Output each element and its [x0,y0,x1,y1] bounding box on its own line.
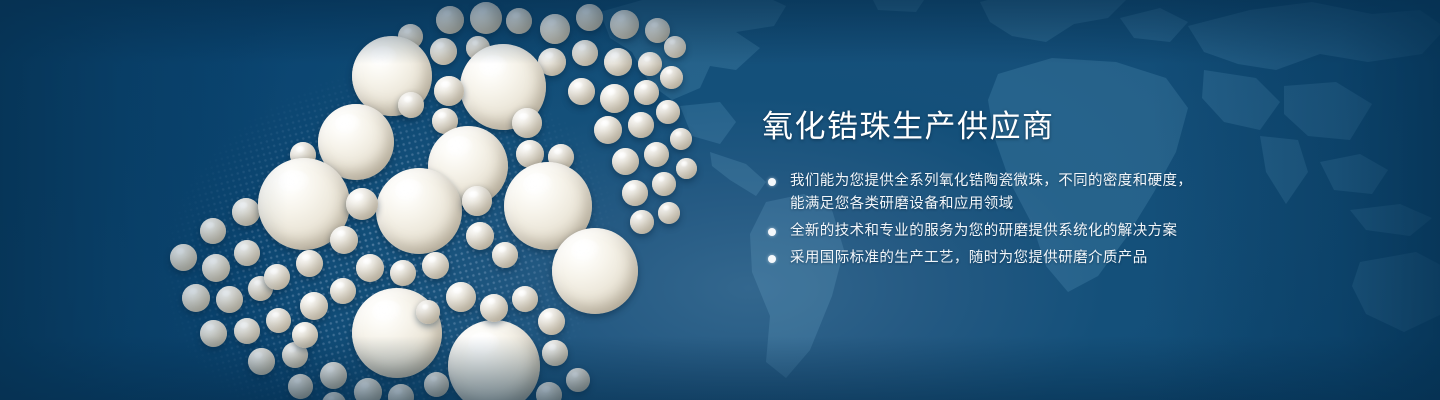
page-title: 氧化锆珠生产供应商 [762,108,1232,146]
bullet-dot-icon [768,255,776,263]
list-item-line1: 全新的技术和专业的服务为您的研磨提供系统化的解决方案 [790,223,1177,239]
list-item: 全新的技术和专业的服务为您的研磨提供系统化的解决方案 [762,220,1232,243]
list-item-line1: 我们能为您提供全系列氧化锆陶瓷微珠，不同的密度和硬度， [790,173,1192,189]
list-item-line2: 能满足您各类研磨设备和应用领域 [790,193,1232,216]
feature-list: 我们能为您提供全系列氧化锆陶瓷微珠，不同的密度和硬度， 能满足您各类研磨设备和应… [762,170,1232,270]
list-item: 我们能为您提供全系列氧化锆陶瓷微珠，不同的密度和硬度， 能满足您各类研磨设备和应… [762,170,1232,216]
bullet-dot-icon [768,178,776,186]
bullet-dot-icon [768,228,776,236]
list-item-line1: 采用国际标准的生产工艺，随时为您提供研磨介质产品 [790,250,1148,266]
list-item: 采用国际标准的生产工艺，随时为您提供研磨介质产品 [762,247,1232,270]
hero-banner: 氧化锆珠生产供应商 我们能为您提供全系列氧化锆陶瓷微珠，不同的密度和硬度， 能满… [0,0,1440,400]
banner-copy: 氧化锆珠生产供应商 我们能为您提供全系列氧化锆陶瓷微珠，不同的密度和硬度， 能满… [762,108,1232,274]
